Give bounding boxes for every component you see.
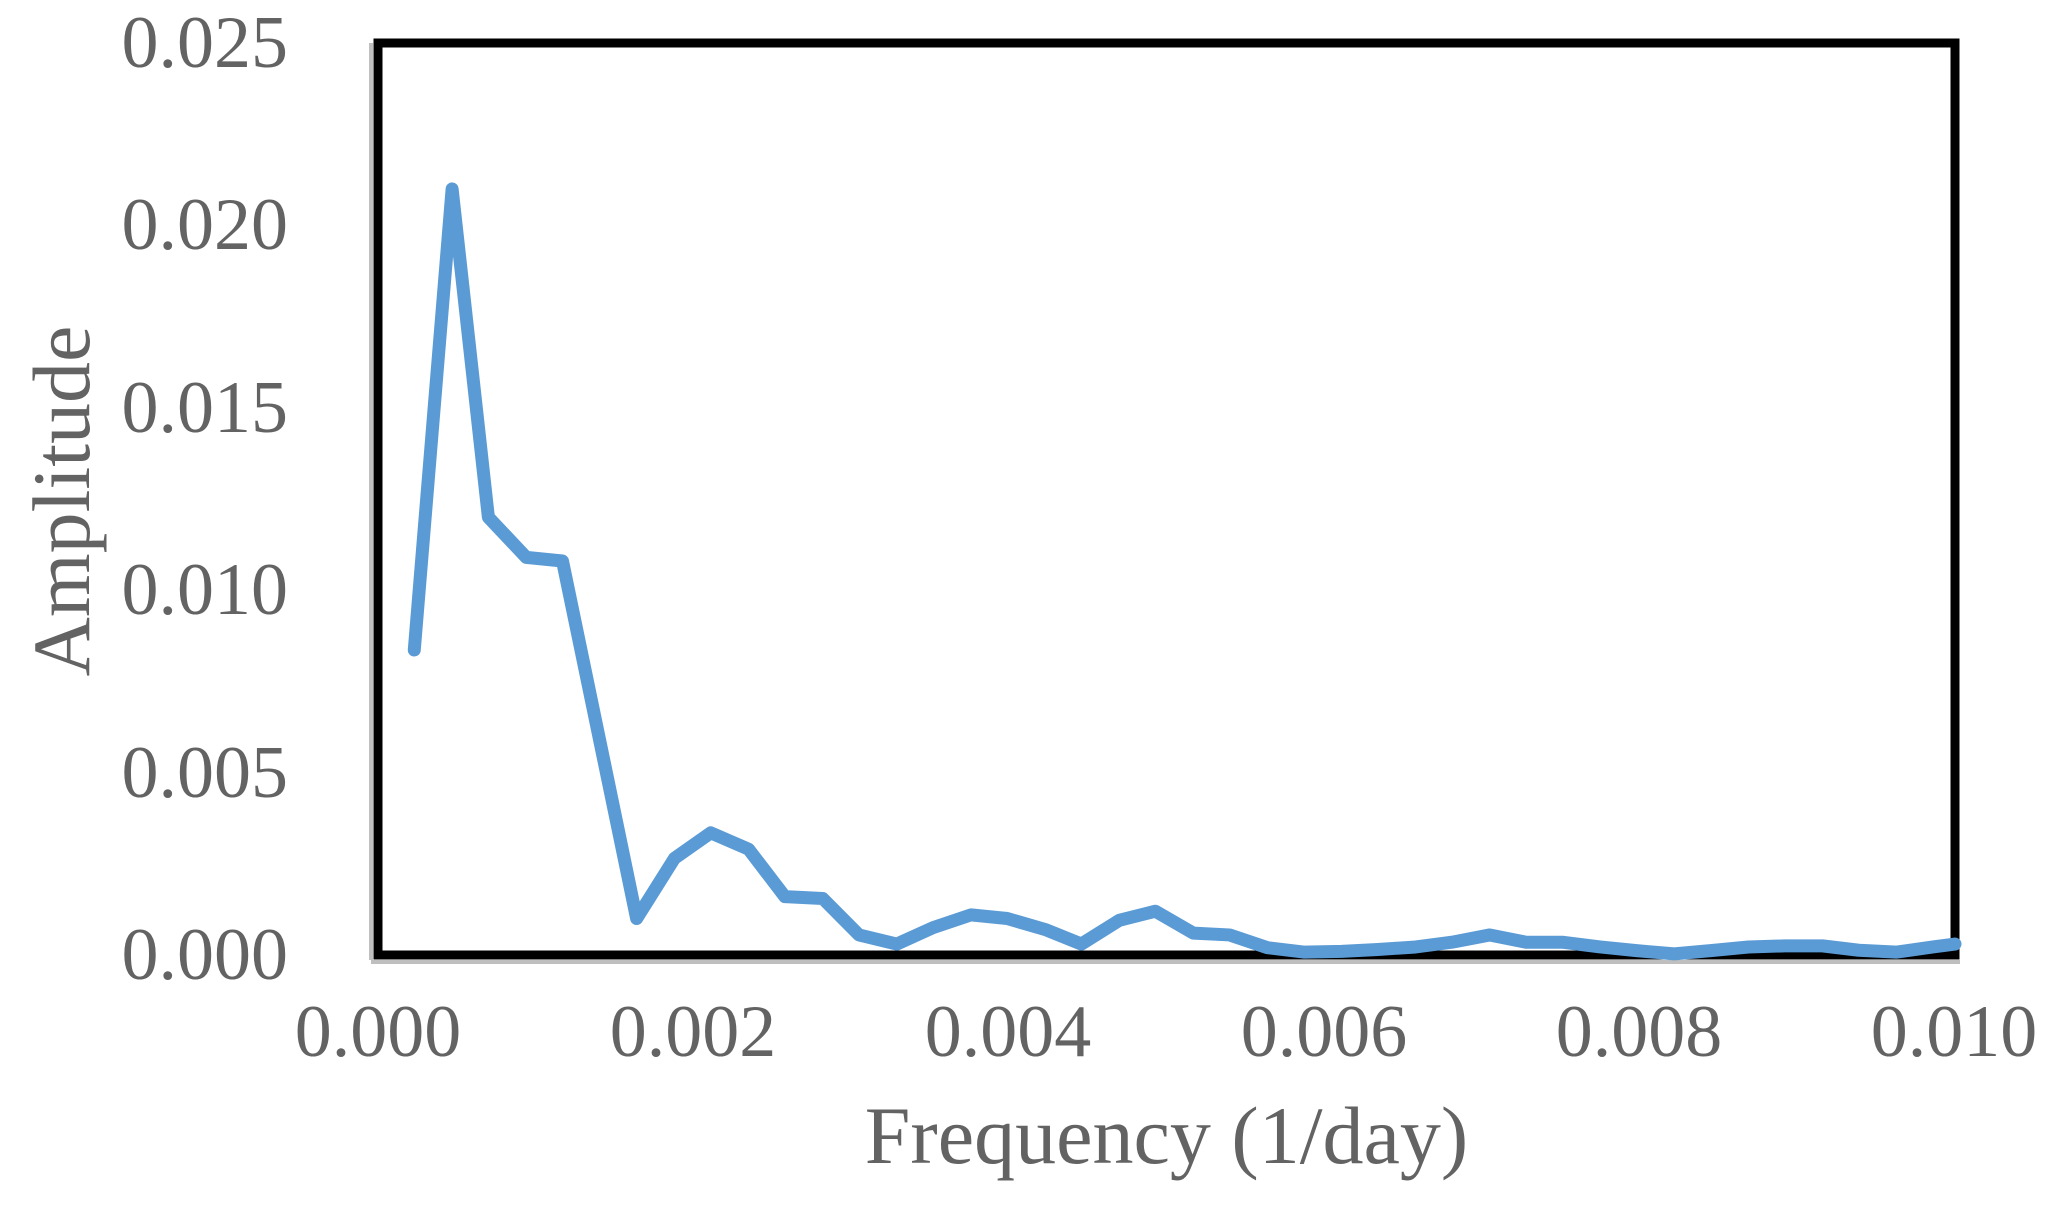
plot-canvas [0,0,2067,1231]
amplitude-spectrum-chart: Amplitude 0.000 0.005 0.010 0.015 0.020 … [0,0,2067,1231]
